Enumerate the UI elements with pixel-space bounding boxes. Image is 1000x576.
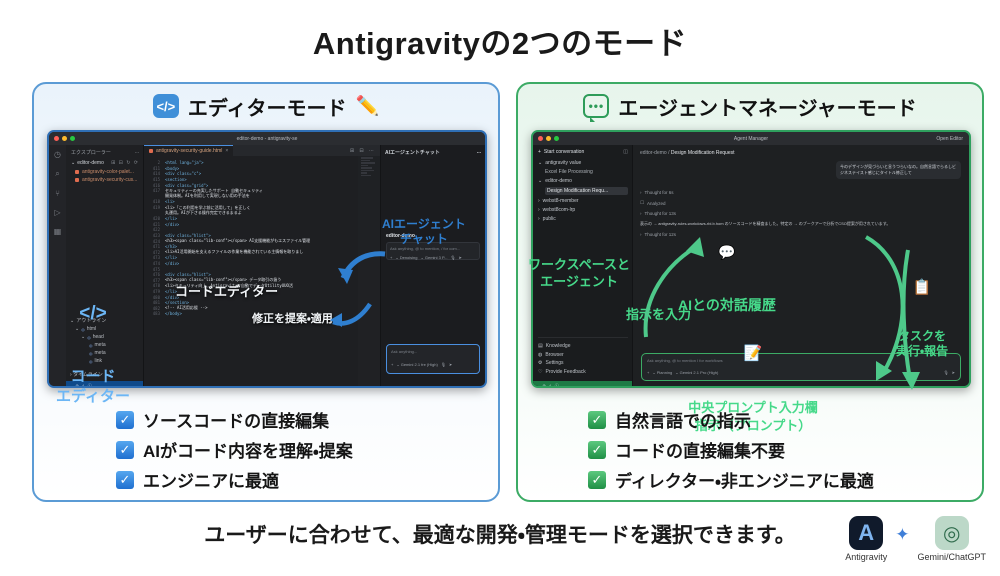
line-number: 474 [144, 261, 160, 266]
line-number: 471 [144, 244, 160, 249]
line-text: <html lang="ja"> [165, 160, 204, 165]
line-number: 417 [144, 188, 160, 193]
line-number: 424 [144, 239, 160, 244]
ide-window-title: editor-demo - antigravity-se [49, 136, 485, 142]
close-icon[interactable]: × [225, 148, 228, 154]
sidebar-item-label: editor-demo [545, 178, 572, 184]
sidebar-item-label: antigravity value [545, 160, 581, 166]
agent-manager-mode-panel: ••• エージェントマネージャーモード Agent Manager Open E… [516, 82, 984, 502]
editor-mode-title: エディターモード [188, 92, 347, 121]
agent-manager-title: エージェントマネージャーモード [618, 92, 916, 121]
explorer-root-label: editor-demo [77, 160, 104, 166]
explorer-file-item[interactable]: antigravity-security-cus... [75, 177, 139, 183]
sidebar-group-item[interactable]: ›webst8-member [538, 198, 628, 204]
line-text: <body> [165, 166, 179, 171]
layout-icon[interactable]: ◫ [623, 149, 628, 155]
editor-mode-header: </> エディターモード ✏️ [34, 84, 498, 128]
line-number: 481 [144, 300, 160, 305]
sidebar-item-label: webst8-member [543, 198, 579, 204]
am-window-title: Agent Manager [533, 136, 969, 142]
model-label: Gemini 2.1 fre (High) [401, 362, 438, 367]
chevron-right-icon: › [538, 207, 540, 213]
sidebar-child-item-selected[interactable]: Design Modification Requ... [545, 187, 628, 195]
user-message-bubble: 今のデザインが見づらいと言うつらいなの。自然言語でらるしビジネステイスト感じにタ… [836, 161, 961, 179]
sidebar-group-item[interactable]: ›public [538, 216, 628, 222]
explorer-file-label: antigravity-color-palet... [82, 169, 134, 175]
editor-tab-label: antigravity-security-guide.html [156, 148, 222, 154]
chevron-down-icon: ⌄ [538, 178, 542, 184]
line-number: 2 [144, 160, 160, 165]
line-number: 419 [144, 205, 160, 210]
line-number: 472 [144, 250, 160, 255]
sidebar-item-label: Provide Feedback [545, 369, 585, 375]
sidebar-item-settings[interactable]: ⚙Settings [538, 360, 628, 366]
plus-icon: + [538, 149, 541, 155]
ai-chat-title: AIエージェントチャット [385, 149, 440, 156]
mic-icon[interactable]: 🎙 [450, 255, 455, 260]
chevron-down-icon: ⌄ [71, 160, 75, 166]
mic-icon[interactable]: 🎙 [441, 362, 446, 367]
line-text: </li> [165, 255, 177, 260]
source-control-icon[interactable]: ⑂ [55, 189, 60, 198]
line-number: 482 [144, 306, 160, 311]
explorer-more-icon[interactable]: ... [135, 149, 139, 156]
line-number: 414 [144, 171, 160, 176]
thought-label: Analyzed [647, 201, 666, 206]
code-brackets-icon: </> [153, 94, 179, 118]
line-number: 415 [144, 177, 160, 182]
explorer-file-label: antigravity-security-cus... [82, 177, 137, 183]
ai-chat-bottom-input[interactable]: Ask anything... + ⌄Gemini 2.1 fre (High)… [386, 344, 480, 374]
checklist-label: エンジニアに最適 [143, 467, 279, 492]
search-icon[interactable]: ⌕ [55, 169, 59, 179]
sidebar-item-label: Settings [545, 360, 563, 366]
ai-chat-bottom-placeholder: Ask anything... [391, 349, 475, 354]
start-conversation-label: Start conversation [544, 149, 584, 155]
line-number: 476 [144, 272, 160, 277]
agent-manager-header: ••• エージェントマネージャーモード [518, 84, 982, 128]
breadcrumb-current: Design Modification Request [671, 150, 735, 156]
error-icon[interactable]: ⊘ [542, 383, 545, 388]
html-file-icon [75, 170, 79, 174]
sidebar-item-knowledge[interactable]: ▤Knowledge [538, 343, 628, 349]
line-text: <!-- AI活用応援 --> [165, 305, 208, 311]
logo-antigravity: A Antigravity [845, 516, 887, 562]
editor-tab[interactable]: antigravity-security-guide.html × [144, 145, 233, 156]
line-number: 418 [144, 199, 160, 204]
line-number: 480 [144, 295, 160, 300]
explorer-title: エクスプローラー [71, 149, 111, 156]
logo-gemini-chatgpt: ◎ Gemini/ChatGPT [917, 516, 986, 562]
line-text: 丸運用。AIが下さる操作完定できるまるよ [165, 210, 242, 216]
breadcrumb-prefix: editor-demo / [640, 150, 669, 156]
html-file-icon [75, 178, 79, 182]
line-number: 416 [144, 183, 160, 188]
chevron-right-icon: › [538, 198, 540, 204]
checklist-item: ✓ ソースコードの直接編集 [116, 407, 498, 432]
line-text: <section> [165, 177, 187, 182]
check-icon: ✓ [588, 411, 606, 429]
open-editor-button[interactable]: Open Editor [936, 136, 963, 142]
annotation-workspace-and-agent: ワークスペースと エージェント [528, 257, 630, 291]
thought-row[interactable]: ☐Analyzed [640, 200, 962, 206]
compose-icon: 📝 [653, 344, 853, 364]
remote-icon[interactable]: ⌄ [536, 383, 539, 388]
sidebar-item-label: webst8com-lrp [543, 207, 576, 213]
checklist-label: ソースコードの直接編集 [143, 407, 329, 432]
check-icon: ✓ [116, 411, 134, 429]
history-icon[interactable]: ◷ [54, 150, 61, 159]
gear-icon: ⚙ [538, 360, 542, 366]
html-file-icon [149, 149, 153, 153]
line-text: <div class="c"> [165, 171, 201, 176]
logo-label: Antigravity [845, 552, 887, 562]
add-attachment-button[interactable]: + [390, 255, 392, 260]
annotation-ai-agent-chat: AIエージェント チャット [382, 217, 466, 247]
line-number: 420 [144, 216, 160, 221]
add-attachment-button[interactable]: + [647, 370, 649, 375]
am-titlebar: Agent Manager Open Editor [533, 132, 969, 145]
check-icon: ✓ [116, 441, 134, 459]
extensions-icon[interactable]: ▦ [54, 227, 62, 236]
chevron-right-icon: › [640, 211, 642, 216]
line-text: <li>AI活用開始を支えるファイルの作業を機能されている主情報を取りまし [165, 249, 303, 255]
editor-mode-checklist: ✓ ソースコードの直接編集 ✓ AIがコード内容を理解・提案 ✓ エンジニアに最… [34, 402, 498, 497]
thought-label: Thought for 6s [645, 190, 674, 195]
model-selector[interactable]: ⌄Gemini 3 P... [421, 255, 448, 260]
sidebar-item-browser[interactable]: ◍Browser [538, 352, 628, 358]
book-icon: ▤ [538, 343, 543, 349]
check-icon: ✓ [588, 441, 606, 459]
send-icon[interactable]: ➤ [952, 370, 955, 375]
explorer-file-item[interactable]: antigravity-color-palet... [75, 169, 139, 175]
line-number: 479 [144, 289, 160, 294]
line-text: </li> [165, 216, 177, 221]
checklist-label: AIがコード内容を理解・提案 [143, 437, 353, 462]
explorer-action-icons[interactable]: ⊞ ⊟ ↻ ⟳ [111, 160, 139, 166]
line-number: 478 [144, 283, 160, 288]
am-status-bar: ⌄ ⊘ △ ⓘ [533, 381, 632, 388]
arrow-suggest-apply [328, 300, 374, 332]
editor-tab-bar: antigravity-security-guide.html × ⊞ ⊟ ⋯ [144, 145, 380, 156]
sidebar-item-label: Excel File Processing [545, 169, 593, 175]
line-text: <h3><span class="lib-conf"></span> AI支援機… [165, 238, 310, 244]
sidebar-item-label: Knowledge [546, 343, 571, 349]
chevron-down-icon: ⌄ [538, 160, 542, 166]
model-selector[interactable]: ⌄Gemini 2.1 fre (High) [396, 362, 437, 367]
start-conversation-button[interactable]: + Start conversation ◫ [538, 149, 628, 155]
chevron-right-icon: › [538, 216, 540, 222]
line-number: 411 [144, 166, 160, 171]
checklist-item: ✓ AIがコード内容を理解・提案 [116, 437, 498, 462]
annotation-suggest-apply-fix: 修正を提案・適用 [252, 313, 333, 327]
arrow-instruction-up [626, 219, 716, 344]
checklist-label: 自然言語での指示 [615, 407, 751, 432]
breadcrumb[interactable]: editor-demo / Design Modification Reques… [640, 150, 962, 156]
checklist-item: ✓ エンジニアに最適 [116, 467, 498, 492]
checkbox-icon: ☐ [640, 200, 644, 206]
globe-icon: ◍ [538, 352, 542, 358]
line-number: 423 [144, 233, 160, 238]
checklist-item: ✓ ディレクター・非エンジニアに最適 [588, 467, 982, 492]
arrow-report-down [898, 244, 948, 394]
sidebar-group-item[interactable]: ⌄editor-demo [538, 178, 628, 184]
sparkle-icon: ✦ [895, 516, 909, 545]
line-number: 422 [144, 227, 160, 232]
mode-selector[interactable]: ⌄Denoising [395, 255, 417, 260]
chatgpt-logo: ◎ [935, 516, 969, 550]
sidebar-item-label: Browser [545, 352, 563, 358]
line-text: </div> [165, 222, 179, 227]
code-brackets-glyph: </> [56, 301, 130, 327]
line-number: 483 [144, 311, 160, 316]
checklist-label: ディレクター・非エンジニアに最適 [615, 467, 874, 492]
ai-chat-more-icon[interactable]: ... [477, 149, 481, 156]
ide-titlebar: editor-demo - antigravity-se [49, 132, 485, 145]
line-number: 477 [144, 278, 160, 283]
arrow-to-ai-chat [337, 246, 389, 288]
info-icon[interactable]: ⓘ [555, 383, 559, 389]
checklist-item: ✓ 自然言語での指示 [588, 407, 982, 432]
footer-logos: A Antigravity ✦ ◎ Gemini/ChatGPT [845, 516, 986, 562]
feedback-icon: ♡ [538, 369, 542, 375]
line-number: 475 [144, 267, 160, 272]
add-attachment-button[interactable]: + [391, 362, 393, 367]
send-icon[interactable]: ➤ [459, 255, 462, 260]
sidebar-item-feedback[interactable]: ♡Provide Feedback [538, 369, 628, 375]
sidebar-item-label: Design Modification Requ... [547, 188, 608, 194]
run-debug-icon[interactable]: ▷ [54, 208, 60, 217]
line-text: </div> [165, 261, 179, 266]
sidebar-child-item[interactable]: Excel File Processing [545, 169, 628, 175]
thought-row[interactable]: ›Thought for 6s [640, 190, 962, 195]
sidebar-bottom-nav: ▤Knowledge ◍Browser ⚙Settings ♡Provide F… [538, 337, 628, 378]
checklist-item: ✓ コードの直接編集不要 [588, 437, 982, 462]
agent-mode-checklist: ✓ 自然言語での指示 ✓ コードの直接編集不要 ✓ ディレクター・非エンジニアに… [518, 402, 982, 497]
editor-tab-actions[interactable]: ⊞ ⊟ ⋯ [350, 148, 376, 154]
ai-chat-pane: AIエージェントチャット ... editor-demo Ask anythin… [380, 145, 485, 388]
check-icon: ✓ [116, 471, 134, 489]
warning-icon[interactable]: △ [549, 383, 552, 388]
line-number: 473 [144, 255, 160, 260]
pencil-icon: ✏️ [355, 94, 379, 118]
line-text: 開発体制。AIを利用して実現しない用の手法を [165, 193, 250, 199]
line-number: 421 [144, 222, 160, 227]
antigravity-logo: A [849, 516, 883, 550]
editor-mode-panel: </> エディターモード ✏️ editor-demo - antigravit… [32, 82, 500, 502]
checklist-label: コードの直接編集不要 [615, 437, 785, 462]
explorer-root-row[interactable]: ⌄ editor-demo ⊞ ⊟ ↻ ⟳ [71, 160, 139, 166]
thought-label: Thought for 13s [645, 211, 677, 216]
page-title: Antigravityの2つのモード [0, 18, 1000, 63]
sidebar-group-item[interactable]: ⌄antigravity value [538, 160, 628, 166]
chat-bubble-icon: ••• [583, 94, 609, 118]
check-icon: ✓ [588, 471, 606, 489]
sidebar-item-label: public [543, 216, 556, 222]
line-text: </body> [165, 311, 182, 316]
sidebar-group-item[interactable]: ›webst8com-lrp [538, 207, 628, 213]
annotation-code-editor-label: コードエディター [175, 284, 278, 300]
logo-label: Gemini/ChatGPT [917, 552, 986, 562]
send-icon[interactable]: ➤ [449, 362, 452, 367]
chevron-right-icon: › [640, 190, 642, 195]
